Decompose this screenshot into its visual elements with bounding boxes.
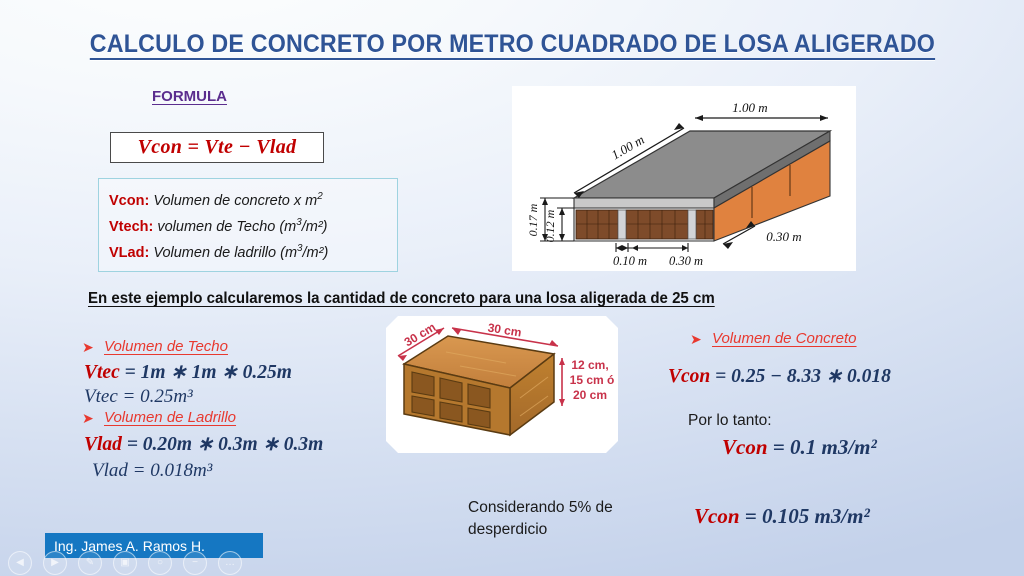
- save-icon[interactable]: ▣: [113, 551, 137, 575]
- legend-sup: 2: [317, 191, 322, 202]
- formula-label: FORMULA: [152, 88, 227, 105]
- brick-label-height-3: 20 cm: [573, 388, 607, 402]
- slab-diagram-svg: 1.00 m 1.00 m 0.17 m 0.12 m: [512, 86, 856, 271]
- brick-image-svg: 30 cm 30 cm 12 cm, 15 cm ó 20 cm: [386, 316, 618, 453]
- equation-final: Vcon = 0.105 m3/m²: [694, 504, 870, 529]
- minimize-icon[interactable]: −: [183, 551, 207, 575]
- example-subtitle: En este ejemplo calcularemos la cantidad…: [88, 290, 715, 308]
- equation-brick-1: Vlad = 0.20m ∗ 0.3m ∗ 0.3m: [84, 432, 323, 456]
- bullet-arrow-icon: ➤: [82, 339, 94, 356]
- equation-result-rest: = 0.1 m3/m²: [768, 435, 877, 459]
- legend-text: volumen de Techo (m: [157, 219, 296, 235]
- heading-volumen-de-concreto: ➤ Volumen de Concreto: [712, 330, 857, 347]
- slab-diagram-panel: 1.00 m 1.00 m 0.17 m 0.12 m: [512, 86, 856, 271]
- equation-concrete-rest: = 0.25 − 8.33 ∗ 0.018: [710, 366, 891, 387]
- brick-label-height-1: 12 cm,: [571, 358, 608, 372]
- slab-label-height-brick: 0.12 m: [543, 209, 557, 242]
- formula-equation: Vcon = Vte − Vlad: [138, 136, 297, 159]
- equation-roof-1: Vtec = 1m ∗ 1m ∗ 0.25m: [84, 360, 292, 384]
- previous-icon[interactable]: ◀: [8, 551, 32, 575]
- slab-label-width-brick: 0.30 m: [669, 254, 703, 268]
- heading-volumen-de-techo: ➤ Volumen de Techo: [104, 338, 228, 355]
- therefore-label: Por lo tanto:: [688, 412, 772, 430]
- page-title: CALCULO DE CONCRETO POR METRO CUADRADO D…: [89, 30, 934, 59]
- legend-key: VLad:: [109, 244, 149, 260]
- legend-row: Vcon: Volumen de concreto x m2: [109, 186, 397, 212]
- heading-volumen-de-ladrillo: ➤ Volumen de Ladrillo: [104, 409, 236, 426]
- legend-key: Vcon:: [109, 193, 149, 209]
- equation-roof-2: Vtec = 0.25m³: [84, 386, 193, 408]
- equation-final-rest: = 0.105 m3/m²: [740, 504, 870, 528]
- equation-concrete: Vcon = 0.25 − 8.33 ∗ 0.018: [668, 364, 891, 388]
- legend-row: VLad: Volumen de ladrillo (m3/m²): [109, 238, 397, 264]
- formula-box: Vcon = Vte − Vlad: [110, 132, 324, 163]
- slab-label-length-side: 1.00 m: [609, 132, 647, 163]
- equation-brick-1-rest: = 0.20m ∗ 0.3m ∗ 0.3m: [122, 434, 323, 455]
- legend-tail: /m²): [302, 219, 328, 235]
- formula-legend-box: Vcon: Volumen de concreto x m2 Vtech: vo…: [98, 178, 398, 272]
- legend-text: Volumen de concreto x m: [153, 193, 317, 209]
- legend-tail: /m²): [303, 244, 329, 260]
- heading-text: Volumen de Concreto: [712, 330, 857, 347]
- heading-text: Volumen de Ladrillo: [104, 409, 236, 426]
- slab-label-height-total: 0.17 m: [526, 203, 540, 236]
- slab-label-width-rib: 0.10 m: [613, 254, 647, 268]
- bullet-arrow-icon: ➤: [690, 331, 702, 348]
- slab-label-depth-brick: 0.30 m: [766, 229, 801, 244]
- equation-result: Vcon = 0.1 m3/m²: [722, 435, 877, 460]
- legend-row: Vtech: volumen de Techo (m3/m²): [109, 212, 397, 238]
- more-icon[interactable]: …: [218, 551, 242, 575]
- brick-label-height-2: 15 cm ó: [570, 373, 615, 387]
- edit-icon[interactable]: ✎: [78, 551, 102, 575]
- brick-label-top: 30 cm: [487, 320, 523, 339]
- waste-note-line-2: desperdicio: [468, 521, 547, 539]
- play-icon[interactable]: ▶: [43, 551, 67, 575]
- legend-text: Volumen de ladrillo (m: [153, 244, 297, 260]
- slab-label-length-top: 1.00 m: [732, 100, 767, 115]
- bullet-arrow-icon: ➤: [82, 410, 94, 427]
- search-icon[interactable]: ○: [148, 551, 172, 575]
- brick-image-panel: 30 cm 30 cm 12 cm, 15 cm ó 20 cm: [386, 316, 618, 453]
- equation-brick-2: Vlad = 0.018m³: [92, 460, 212, 482]
- waste-note-line-1: Considerando 5% de: [468, 499, 613, 517]
- legend-key: Vtech:: [109, 219, 153, 235]
- equation-roof-1-rest: = 1m ∗ 1m ∗ 0.25m: [120, 362, 292, 383]
- slide-canvas: CALCULO DE CONCRETO POR METRO CUADRADO D…: [0, 0, 1024, 576]
- heading-text: Volumen de Techo: [104, 338, 228, 355]
- title-container: CALCULO DE CONCRETO POR METRO CUADRADO D…: [0, 30, 1024, 59]
